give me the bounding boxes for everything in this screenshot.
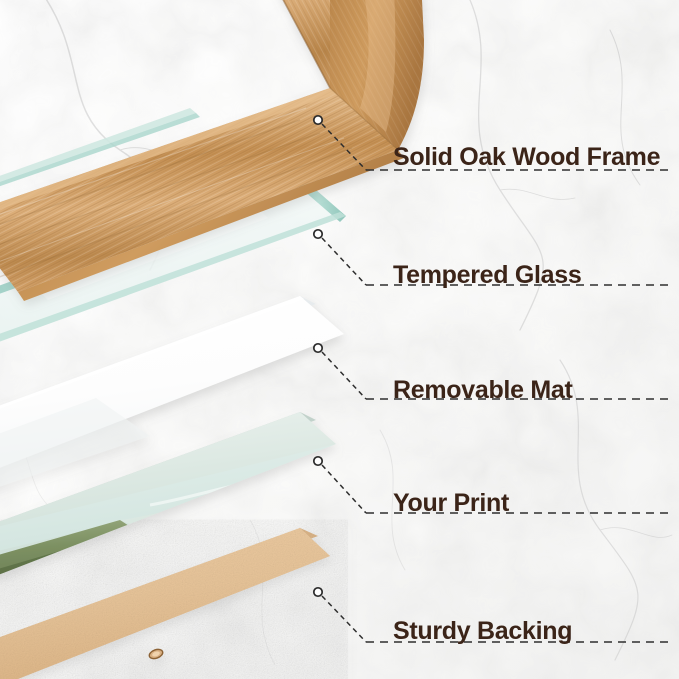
callout-label-backing: Sturdy Backing (393, 619, 572, 644)
infographic-canvas: Solid Oak Wood FrameTempered GlassRemova… (0, 0, 679, 679)
callout-marker-dot (314, 344, 322, 352)
callout-marker-dot (314, 588, 322, 596)
callout-label-mat: Removable Mat (393, 378, 573, 403)
callout-label-print: Your Print (393, 491, 509, 516)
exploded-frame-illustration (0, 0, 679, 679)
callout-label-glass: Tempered Glass (393, 263, 581, 288)
callout-marker-dot (314, 116, 322, 124)
callout-marker-dot (314, 457, 322, 465)
callout-marker-dot (314, 230, 322, 238)
callout-label-frame: Solid Oak Wood Frame (393, 145, 660, 170)
